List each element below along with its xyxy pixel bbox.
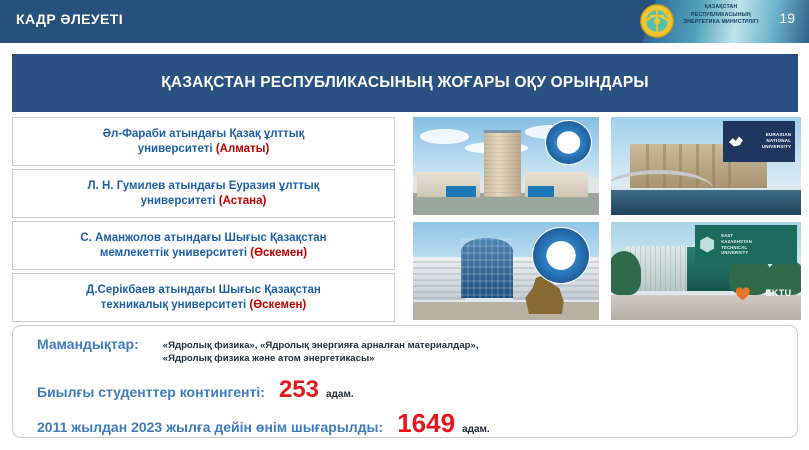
university-line2-1: университеті <box>138 143 216 155</box>
contingent-row: Биылғы студенттер контингенті: 253 адам. <box>37 376 354 404</box>
specialties-value: «Ядролық физика», «Ядролық энергияға арн… <box>163 336 479 365</box>
campus-banner <box>446 186 476 198</box>
university-photo-grid: EURASIAN NATIONAL UNIVERSITY <box>413 117 801 320</box>
tree-shape <box>611 251 641 294</box>
header-title: КАДР ӘЛЕУЕТІ <box>16 11 123 27</box>
kaznu-tower-building <box>484 130 521 198</box>
specialties-label: Мамандықтар: <box>37 336 139 365</box>
info-panel: Мамандықтар: «Ядролық физика», «Ядролық … <box>12 325 798 438</box>
university-box-1[interactable]: Әл-Фараби атындағы Қазақ ұлттық универси… <box>12 117 395 166</box>
ektu-campus-photo: EKTU EAST KAZAKHSTAN TECHNICAL UNIVERSIT… <box>611 222 801 320</box>
campus-banner <box>528 186 554 198</box>
ministry-logo-block: ҚАЗАҚСТАН РЕСПУБЛИКАСЫНЫҢ ЭНЕРГЕТИКА МИН… <box>615 0 809 43</box>
university-line1-3: С. Аманжолов атындағы Шығыс Қазақстан <box>80 232 326 244</box>
university-city-1: (Алматы) <box>216 143 269 155</box>
skgu-emblem-icon <box>532 227 590 284</box>
ektu-badge-line3: TECHNICAL <box>721 245 747 250</box>
ektu-logo-badge: EAST KAZAKHSTAN TECHNICAL UNIVERSITY <box>695 225 797 264</box>
kaznu-emblem-icon <box>545 120 592 165</box>
main-title-text: ҚАЗАҚСТАН РЕСПУБЛИКАСЫНЫҢ ЖОҒАРЫ ОҚУ ОРЫ… <box>161 74 649 92</box>
university-line2-2: университеті <box>141 195 219 207</box>
university-city-4: (Өскемен) <box>249 299 306 311</box>
enu-badge-text: EURASIAN NATIONAL UNIVERSITY <box>762 132 792 150</box>
university-box-2[interactable]: Л. Н. Гумилев атындағы Еуразия ұлттық ун… <box>12 169 395 218</box>
university-line1-4: Д.Серікбаев атындағы Шығыс Қазақстан <box>86 284 321 296</box>
specialties-line1: «Ядролық физика», «Ядролық энергияға арн… <box>163 340 479 351</box>
glass-rotunda-building <box>461 238 513 299</box>
university-name-1: Әл-Фараби атындағы Қазақ ұлттық универси… <box>103 127 305 157</box>
kaznu-campus-photo <box>413 117 599 215</box>
university-box-3[interactable]: С. Аманжолов атындағы Шығыс Қазақстан ме… <box>12 221 395 270</box>
contingent-label: Биылғы студенттер контингенті: <box>37 384 265 400</box>
graduates-value: 1649 <box>397 408 455 439</box>
river-water <box>611 190 801 215</box>
hexagon-icon <box>700 237 714 253</box>
university-line1-2: Л. Н. Гумилев атындағы Еуразия ұлттық <box>88 180 320 192</box>
university-line2-4: техникалық университеті <box>101 299 250 311</box>
slide-header: КАДР ӘЛЕУЕТІ ҚАЗАҚСТАН РЕСПУБЛИКАСЫНЫҢ Э… <box>0 0 809 43</box>
ektu-badge-line2: KAZAKHSTAN <box>721 239 752 244</box>
main-title-bar: ҚАЗАҚСТАН РЕСПУБЛИКАСЫНЫҢ ЖОҒАРЫ ОҚУ ОРЫ… <box>12 54 798 112</box>
page-number: 19 <box>779 10 795 26</box>
university-box-4[interactable]: Д.Серікбаев атындағы Шығыс Қазақстан тех… <box>12 273 395 322</box>
contingent-unit: адам. <box>326 389 354 400</box>
university-line2-3: мемлекеттік университеті <box>100 247 250 259</box>
enu-badge-line1: EURASIAN <box>766 132 792 137</box>
university-name-4: Д.Серікбаев атындағы Шығыс Қазақстан тех… <box>86 283 321 313</box>
graduates-row: 2011 жылдан 2023 жылға дейін өнім шығары… <box>37 408 490 439</box>
university-city-2: (Астана) <box>219 195 267 207</box>
university-name-3: С. Аманжолов атындағы Шығыс Қазақстан ме… <box>80 231 326 261</box>
specialties-row: Мамандықтар: «Ядролық физика», «Ядролық … <box>37 336 777 365</box>
enu-campus-photo: EURASIAN NATIONAL UNIVERSITY <box>611 117 801 215</box>
ektu-sign-text: EKTU <box>765 288 791 298</box>
skgu-campus-photo <box>413 222 599 320</box>
campus-wing-left <box>413 257 465 300</box>
university-line1-1: Әл-Фараби атындағы Қазақ ұлттық <box>103 128 305 140</box>
ektu-badge-line1: EAST <box>721 233 733 238</box>
graduates-label: 2011 жылдан 2023 жылға дейін өнім шығары… <box>37 419 383 435</box>
enu-logo-badge: EURASIAN NATIONAL UNIVERSITY <box>723 121 795 162</box>
ground-shape <box>413 302 599 320</box>
university-list: Әл-Фараби атындағы Қазақ ұлттық универси… <box>12 117 395 325</box>
university-name-2: Л. Н. Гумилев атындағы Еуразия ұлттық ун… <box>88 179 320 209</box>
ektu-badge-line4: UNIVERSITY <box>721 250 748 255</box>
kazakhstan-state-emblem-icon <box>639 3 675 39</box>
ministry-logo-text: ҚАЗАҚСТАН РЕСПУБЛИКАСЫНЫҢ ЭНЕРГЕТИКА МИН… <box>679 4 763 27</box>
specialties-line2: «Ядролық физика және атом энергетикасы» <box>163 353 375 364</box>
ektu-badge-text: EAST KAZAKHSTAN TECHNICAL UNIVERSITY <box>721 233 752 255</box>
slide-root: КАДР ӘЛЕУЕТІ ҚАЗАҚСТАН РЕСПУБЛИКАСЫНЫҢ Э… <box>0 0 809 450</box>
enu-badge-line3: UNIVERSITY <box>762 144 792 149</box>
eagle-icon <box>729 135 743 147</box>
graduates-unit: адам. <box>462 424 490 435</box>
contingent-value: 253 <box>279 376 319 404</box>
university-city-3: (Өскемен) <box>250 247 307 259</box>
enu-badge-line2: NATIONAL <box>766 138 791 143</box>
